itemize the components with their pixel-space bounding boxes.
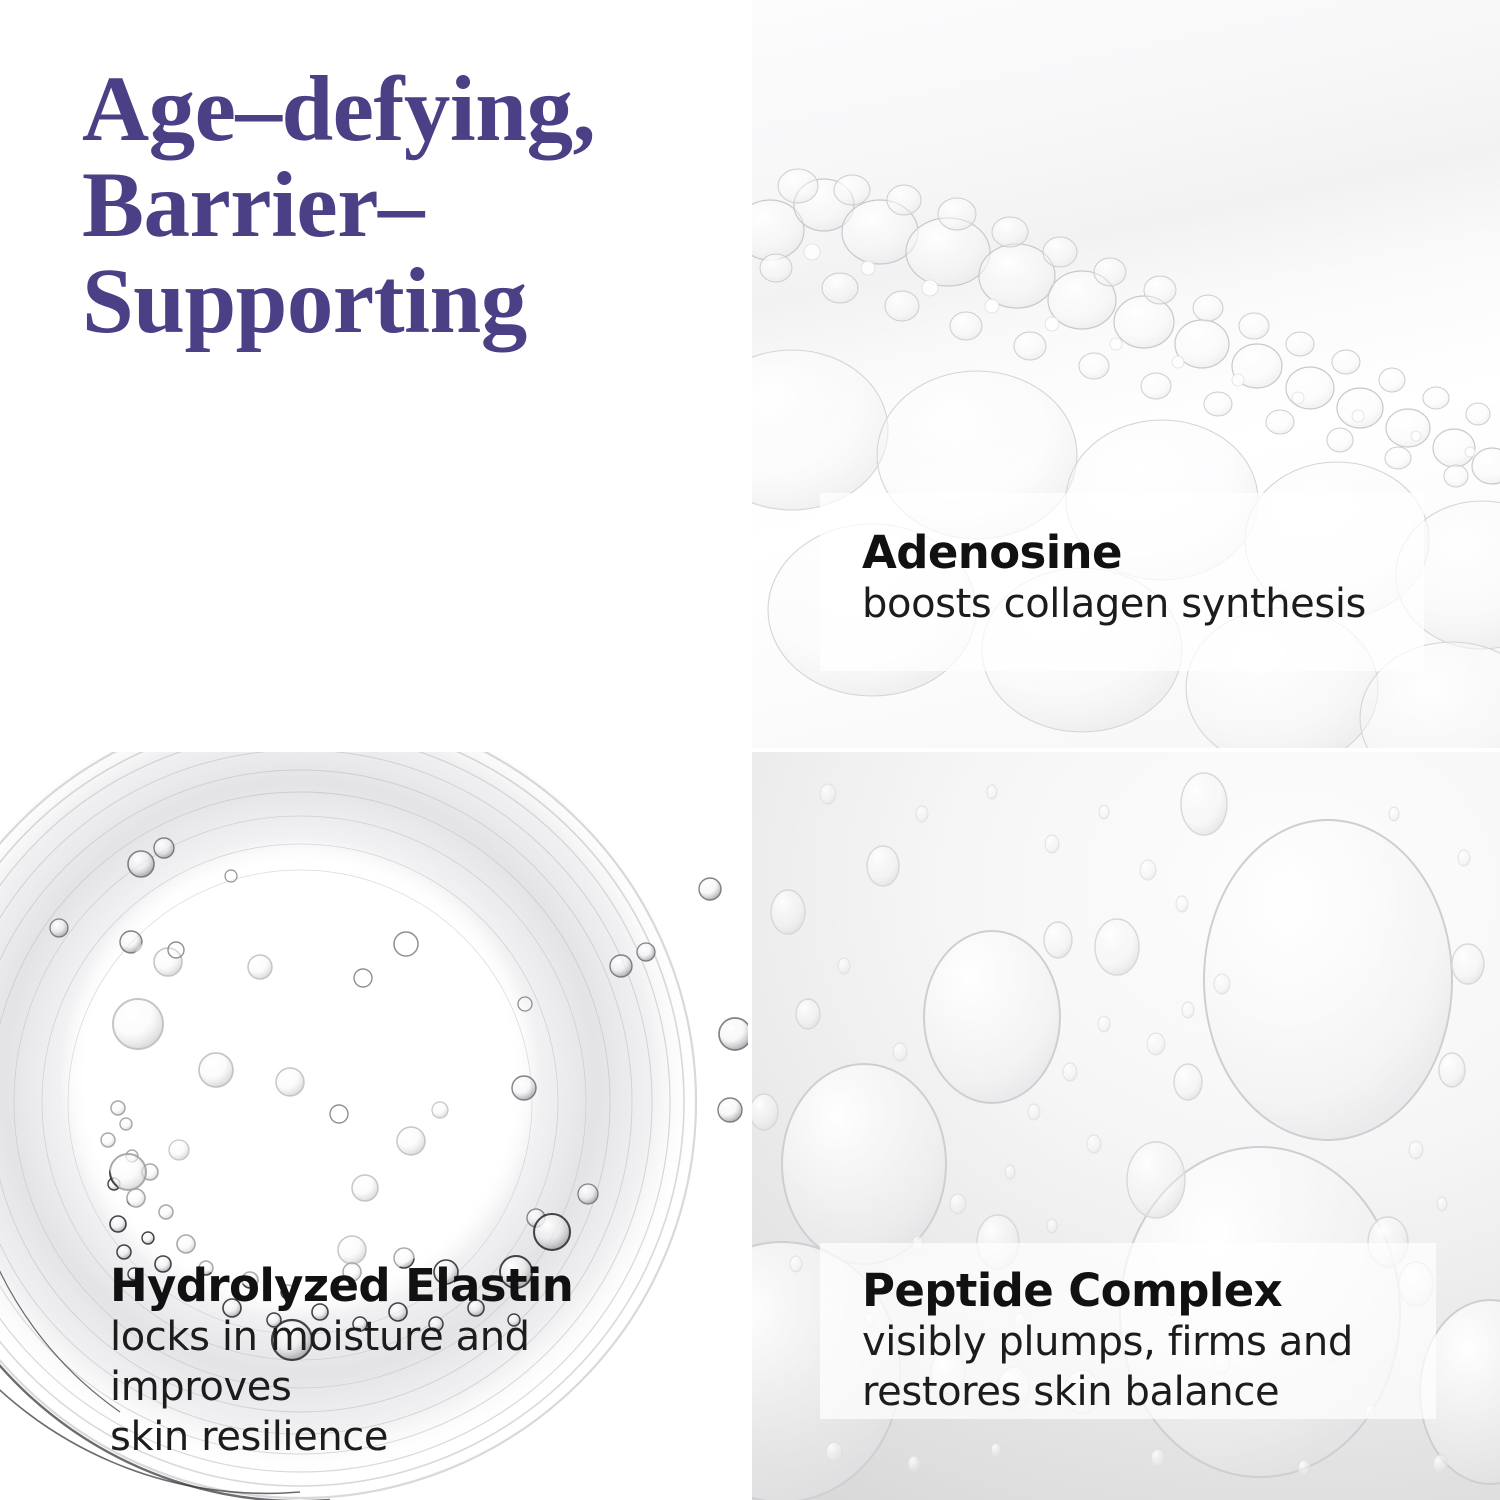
ingredient-title-adenosine: Adenosine xyxy=(862,527,1424,579)
caption-elastin: Hydrolyzed Elastin locks in moisture and… xyxy=(110,1260,710,1462)
headline-panel: Age–defying, Barrier– Supporting xyxy=(0,0,748,748)
infographic-canvas: Age–defying, Barrier– Supporting xyxy=(0,0,1500,1500)
panel-adenosine: Adenosine boosts collagen synthesis xyxy=(752,0,1500,748)
page-title: Age–defying, Barrier– Supporting xyxy=(82,62,702,350)
ingredient-desc-peptide: visibly plumps, firms and restores skin … xyxy=(862,1317,1436,1417)
caption-adenosine: Adenosine boosts collagen synthesis xyxy=(820,493,1424,671)
caption-peptide: Peptide Complex visibly plumps, firms an… xyxy=(820,1243,1436,1419)
ingredient-title-elastin: Hydrolyzed Elastin xyxy=(110,1260,710,1312)
ingredient-title-peptide: Peptide Complex xyxy=(862,1265,1436,1317)
panel-elastin: Hydrolyzed Elastin locks in moisture and… xyxy=(0,752,748,1500)
ingredient-desc-elastin: locks in moisture and improves skin resi… xyxy=(110,1312,710,1462)
panel-peptide: Peptide Complex visibly plumps, firms an… xyxy=(752,752,1500,1500)
ingredient-desc-adenosine: boosts collagen synthesis xyxy=(862,579,1424,629)
